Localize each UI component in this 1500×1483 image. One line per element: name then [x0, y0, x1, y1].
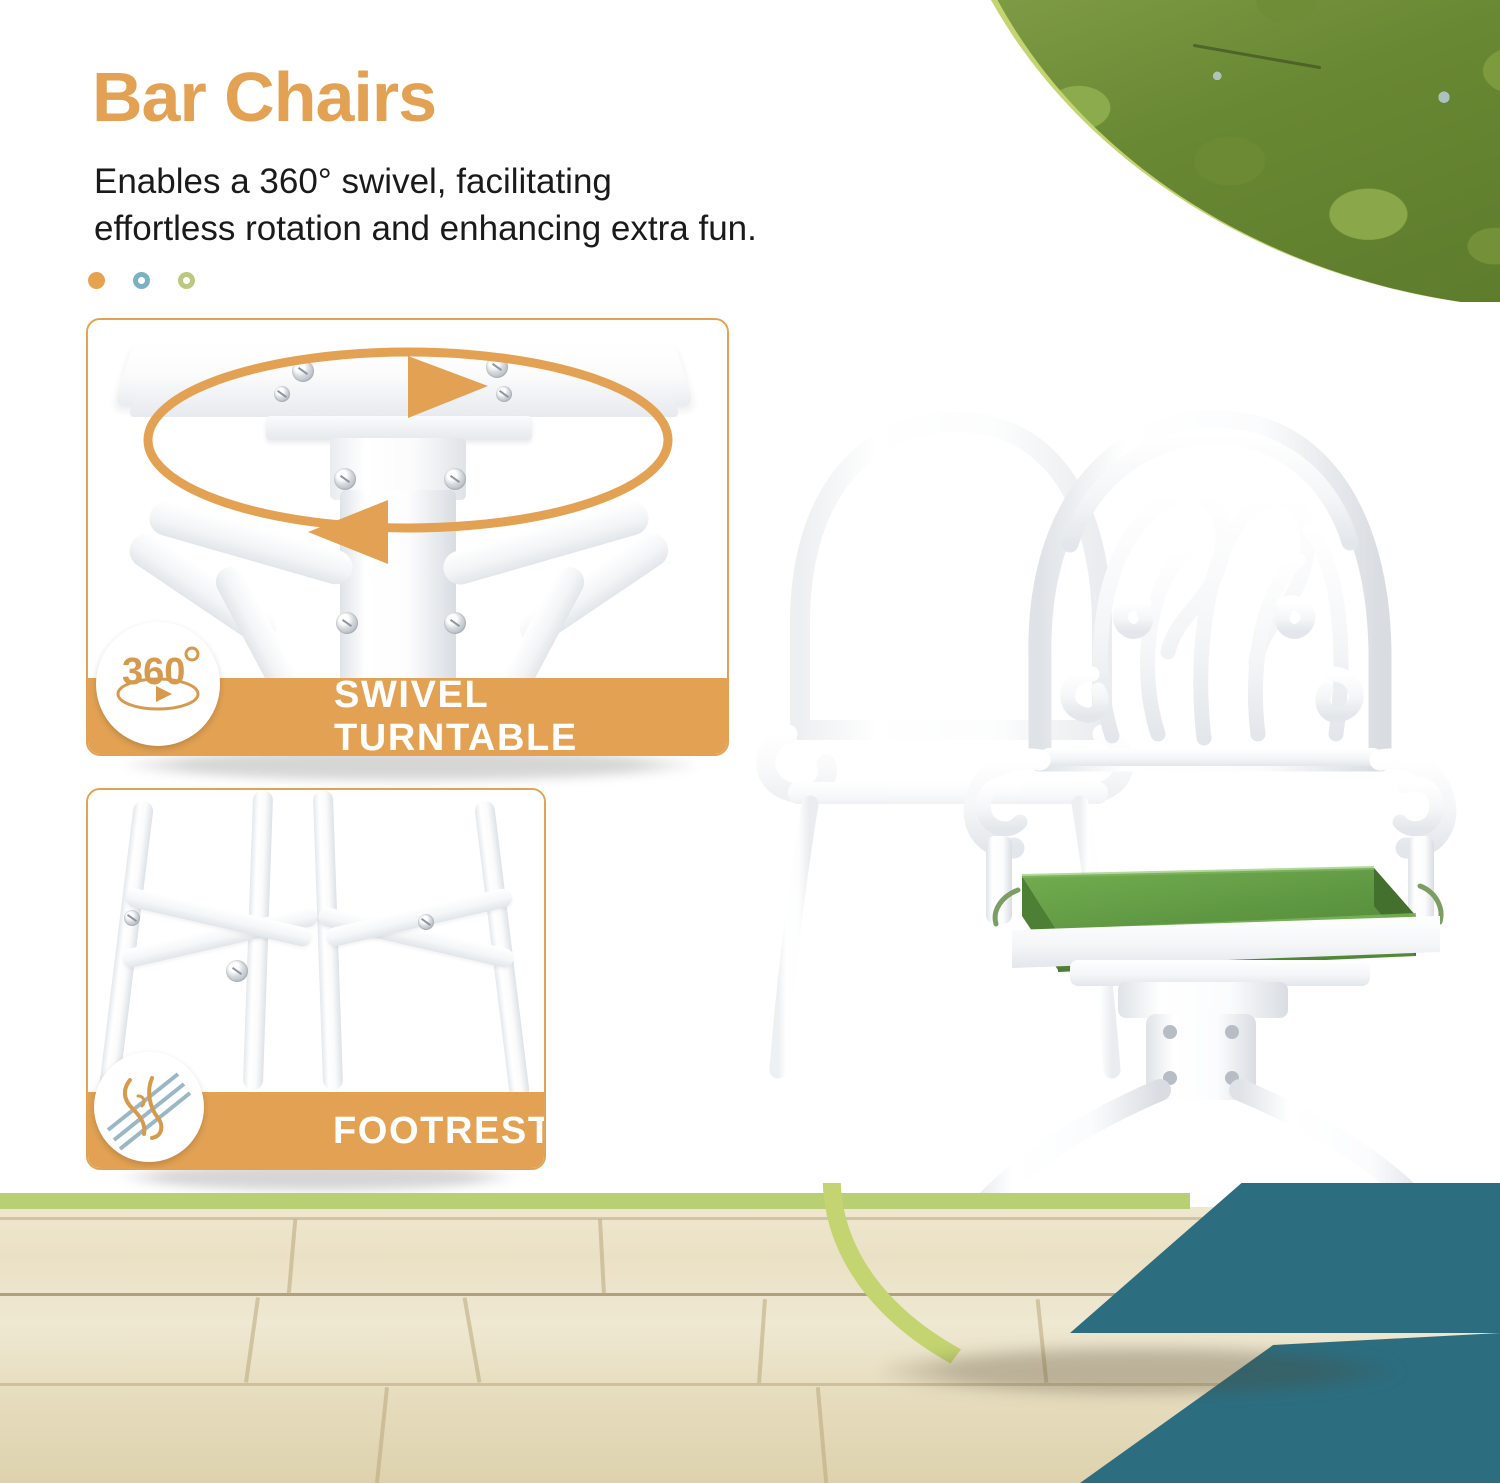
bolt-icon [124, 910, 140, 926]
back-rail [1040, 748, 1382, 766]
bar-chairs-illustration [740, 330, 1500, 1330]
stone-joint [244, 1297, 260, 1383]
foliage-decoration [980, 0, 1500, 302]
bolt-icon [226, 960, 248, 982]
subtitle-line-2: effortless rotation and enhancing extra … [94, 205, 914, 252]
page-title: Bar Chairs [92, 62, 436, 132]
swivel-hub [1118, 982, 1288, 1100]
stone-joint [463, 1297, 482, 1382]
bolt-icon [418, 914, 434, 930]
arm-post [986, 836, 1012, 924]
foot-glyph [94, 1052, 204, 1162]
stone-joint [375, 1387, 389, 1483]
footrest-panel: FOOTREST [86, 788, 546, 1170]
stone-joint [816, 1387, 828, 1483]
main-product-image [740, 330, 1500, 1330]
footrest-panel-label: FOOTREST [333, 1110, 546, 1153]
stone-joint [287, 1219, 298, 1295]
stone-joint [757, 1299, 767, 1383]
dot-indicator-3 [178, 272, 195, 289]
tree-canopy-image [980, 0, 1500, 302]
360-degree-glyph: 360 [96, 622, 220, 746]
arm-post [1408, 836, 1434, 924]
dot-indicator-1 [88, 272, 105, 289]
infographic-page: Bar Chairs Enables a 360° swivel, facili… [0, 0, 1500, 1483]
chair-ground-shadow [880, 1345, 1400, 1397]
svg-text:360: 360 [122, 651, 185, 693]
360-rotation-icon: 360 [96, 622, 220, 746]
subtitle-line-1: Enables a 360° swivel, facilitating [94, 158, 914, 205]
patio-background [0, 1183, 1500, 1483]
dot-indicator-group [88, 272, 195, 289]
page-subtitle: Enables a 360° swivel, facilitating effo… [94, 158, 914, 253]
foot-on-rest-icon [94, 1052, 204, 1162]
swivel-panel-label: SWIVEL TURNTABLE [334, 674, 729, 756]
stone-joint [598, 1219, 606, 1295]
dot-indicator-2 [133, 272, 150, 289]
sky-gaps [980, 0, 1500, 302]
swivel-turntable-panel: SWIVEL TURNTABLE 360 [86, 318, 729, 756]
